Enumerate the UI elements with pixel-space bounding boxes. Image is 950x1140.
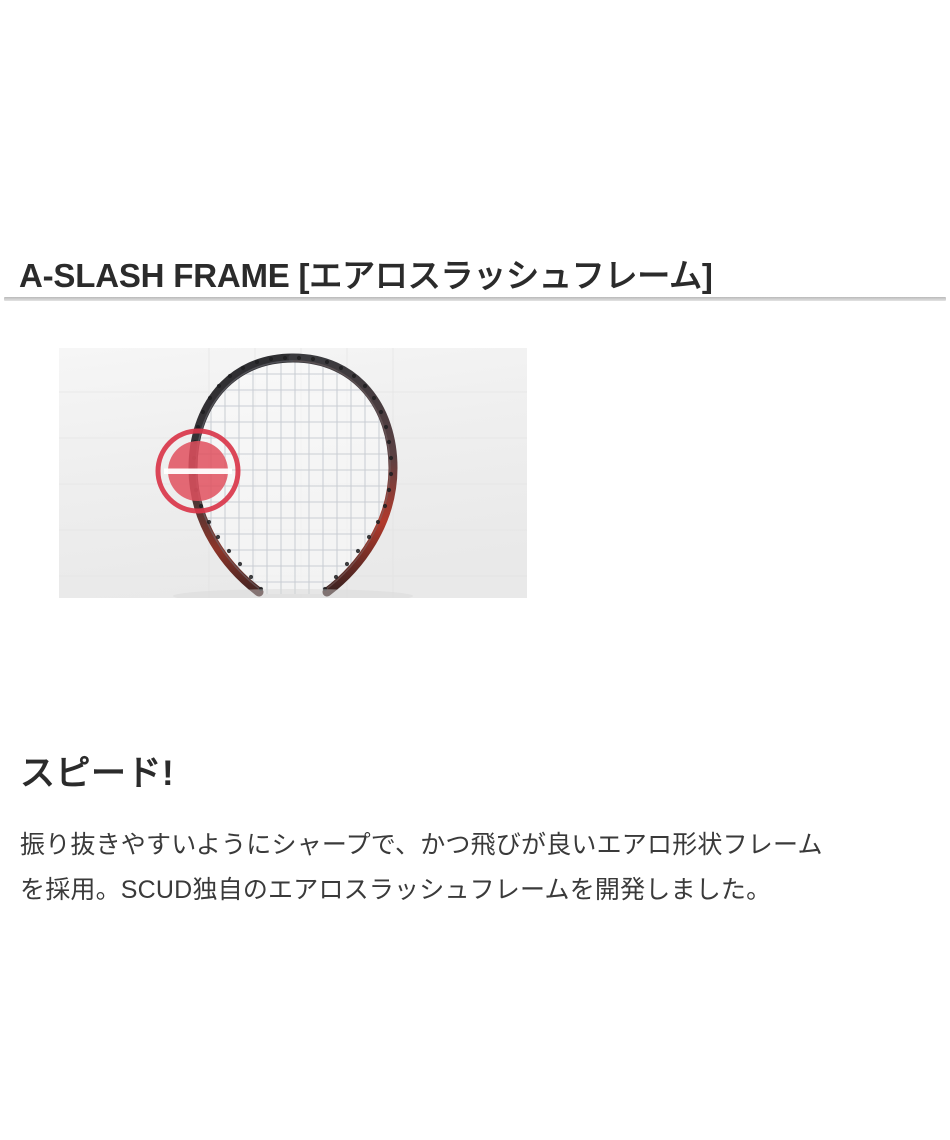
description-line-1: 振り抜きやすいようにシャープで、かつ飛びが良いエアロ形状フレーム xyxy=(20,823,936,868)
product-photo xyxy=(59,348,527,598)
page-root: A-SLASH FRAME [エアロスラッシュフレーム] xyxy=(0,0,950,1140)
page-title: A-SLASH FRAME [エアロスラッシュフレーム] xyxy=(19,255,929,297)
feature-description: 振り抜きやすいようにシャープで、かつ飛びが良いエアロ形状フレーム を採用。SCU… xyxy=(20,823,936,913)
description-line-2: を採用。SCUD独自のエアロスラッシュフレームを開発しました。 xyxy=(20,868,936,913)
racket-frame-illustration xyxy=(59,348,527,598)
highlight-marker xyxy=(158,431,238,511)
title-divider xyxy=(4,297,946,301)
feature-heading: スピード! xyxy=(20,751,174,797)
